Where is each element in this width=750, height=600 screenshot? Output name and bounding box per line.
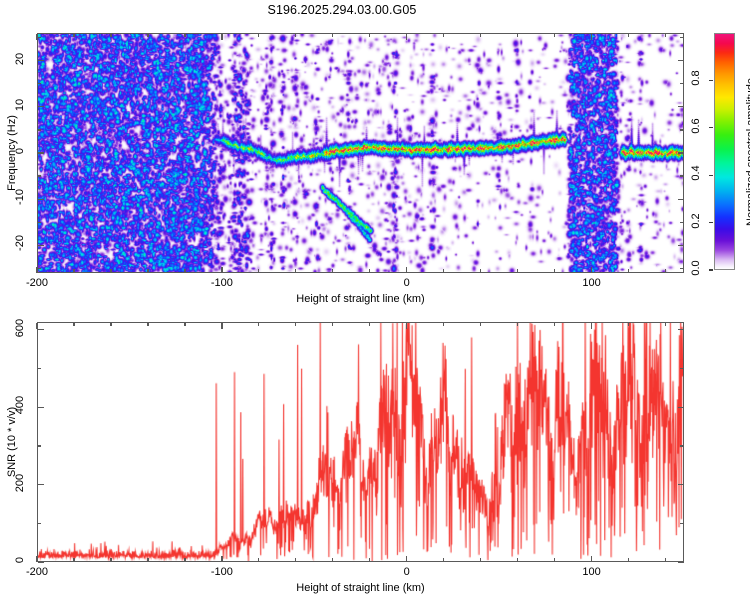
x-minor-tick: [332, 34, 333, 38]
y-tick: [678, 152, 684, 153]
x-minor-tick: [184, 269, 185, 273]
y-tick: [38, 199, 44, 200]
x-tick-label: -200: [26, 277, 48, 289]
spectrogram-canvas: [38, 34, 683, 272]
y-minor-tick: [38, 175, 42, 176]
y-minor-tick: [680, 523, 684, 524]
y-tick: [678, 561, 684, 562]
y-tick-label: 600: [14, 315, 26, 341]
colorbar: [714, 33, 735, 270]
x-tick: [591, 556, 592, 562]
y-minor-tick: [38, 83, 42, 84]
x-minor-tick: [628, 269, 629, 273]
y-tick: [678, 245, 684, 246]
x-tick-label: -200: [26, 566, 48, 578]
x-minor-tick: [480, 558, 481, 562]
x-minor-tick: [110, 558, 111, 562]
x-minor-tick: [443, 269, 444, 273]
x-axis-title: Height of straight line (km): [296, 293, 424, 305]
y-tick-label: -20: [14, 230, 26, 256]
x-minor-tick: [258, 558, 259, 562]
colorbar-tick: [709, 269, 713, 270]
x-minor-tick: [554, 34, 555, 38]
y-minor-tick: [38, 222, 42, 223]
y-tick: [678, 407, 684, 408]
colorbar-tick-label: 0.4: [690, 159, 702, 187]
y-minor-tick: [680, 445, 684, 446]
y-tick: [38, 484, 44, 485]
x-tick-label: 0: [404, 566, 410, 578]
x-minor-tick: [665, 34, 666, 38]
x-minor-tick: [73, 558, 74, 562]
x-minor-tick: [369, 269, 370, 273]
y-tick: [678, 484, 684, 485]
y-minor-tick: [680, 368, 684, 369]
colorbar-tick-label: 0.8: [690, 64, 702, 92]
x-minor-tick: [110, 269, 111, 273]
snr-plot-area: [37, 322, 684, 562]
x-minor-tick: [665, 558, 666, 562]
y-minor-tick: [680, 222, 684, 223]
y-tick: [38, 561, 44, 562]
x-minor-tick: [258, 269, 259, 273]
x-minor-tick: [147, 558, 148, 562]
x-minor-tick: [443, 323, 444, 327]
y-minor-tick: [680, 129, 684, 130]
y-minor-tick: [680, 37, 684, 38]
y-tick: [678, 199, 684, 200]
x-minor-tick: [258, 323, 259, 327]
x-minor-tick: [443, 558, 444, 562]
y-minor-tick: [38, 268, 42, 269]
y-tick-label: 10: [14, 92, 26, 118]
x-minor-tick: [147, 34, 148, 38]
x-minor-tick: [147, 323, 148, 327]
x-minor-tick: [73, 34, 74, 38]
y-minor-tick: [680, 175, 684, 176]
figure-root: S196.2025.294.03.00.G05 -200-1000100-20-…: [0, 0, 750, 600]
colorbar-tick-label: 0.0: [690, 254, 702, 282]
y-minor-tick: [38, 368, 42, 369]
y-tick: [38, 329, 44, 330]
x-tick: [591, 267, 592, 273]
x-tick-label: 0: [404, 277, 410, 289]
x-minor-tick: [369, 323, 370, 327]
y-tick: [38, 407, 44, 408]
y-tick: [38, 106, 44, 107]
x-tick: [36, 323, 37, 329]
x-minor-tick: [628, 34, 629, 38]
x-minor-tick: [110, 34, 111, 38]
x-minor-tick: [443, 34, 444, 38]
x-tick: [406, 34, 407, 40]
x-tick: [591, 323, 592, 329]
x-minor-tick: [332, 323, 333, 327]
x-minor-tick: [258, 34, 259, 38]
colorbar-tick: [709, 127, 713, 128]
x-minor-tick: [295, 323, 296, 327]
y-tick: [678, 60, 684, 61]
y-tick: [38, 60, 44, 61]
x-tick: [591, 34, 592, 40]
spectrogram-plot-area: [37, 33, 684, 273]
page-title: S196.2025.294.03.00.G05: [0, 3, 684, 17]
y-minor-tick: [38, 129, 42, 130]
y-tick: [38, 152, 44, 153]
x-minor-tick: [665, 323, 666, 327]
x-minor-tick: [147, 269, 148, 273]
colorbar-title: Normalized spectral amplitude: [745, 78, 750, 226]
x-minor-tick: [517, 323, 518, 327]
colorbar-tick-label: 0.6: [690, 112, 702, 140]
colorbar-tick: [709, 175, 713, 176]
x-minor-tick: [73, 323, 74, 327]
y-tick-label: 20: [14, 46, 26, 72]
x-minor-tick: [369, 34, 370, 38]
x-minor-tick: [480, 34, 481, 38]
x-tick: [406, 323, 407, 329]
colorbar-tick-label: 0.2: [690, 207, 702, 235]
y-minor-tick: [680, 268, 684, 269]
x-minor-tick: [369, 558, 370, 562]
y-axis-title: Frequency (Hz): [6, 115, 18, 191]
y-tick: [38, 245, 44, 246]
colorbar-tick: [709, 80, 713, 81]
y-tick: [678, 106, 684, 107]
x-minor-tick: [517, 558, 518, 562]
y-tick: [678, 329, 684, 330]
x-minor-tick: [184, 323, 185, 327]
x-tick: [221, 34, 222, 40]
x-minor-tick: [554, 269, 555, 273]
x-minor-tick: [554, 558, 555, 562]
x-tick-label: -100: [211, 566, 233, 578]
x-minor-tick: [554, 323, 555, 327]
x-minor-tick: [73, 269, 74, 273]
x-tick: [221, 556, 222, 562]
snr-canvas: [38, 323, 683, 561]
x-minor-tick: [332, 269, 333, 273]
y-minor-tick: [680, 83, 684, 84]
y-tick-label: 0: [14, 547, 26, 573]
x-tick-label: 100: [582, 277, 600, 289]
x-minor-tick: [628, 323, 629, 327]
x-tick: [221, 323, 222, 329]
x-minor-tick: [517, 34, 518, 38]
colorbar-tick: [709, 222, 713, 223]
x-minor-tick: [628, 558, 629, 562]
x-minor-tick: [517, 269, 518, 273]
y-minor-tick: [38, 37, 42, 38]
y-minor-tick: [38, 445, 42, 446]
x-tick: [406, 267, 407, 273]
y-minor-tick: [38, 523, 42, 524]
x-minor-tick: [480, 269, 481, 273]
x-minor-tick: [295, 558, 296, 562]
x-tick: [221, 267, 222, 273]
x-minor-tick: [480, 323, 481, 327]
x-tick: [406, 556, 407, 562]
x-tick-label: -100: [211, 277, 233, 289]
x-axis-title: Height of straight line (km): [296, 582, 424, 594]
x-minor-tick: [110, 323, 111, 327]
x-minor-tick: [295, 269, 296, 273]
x-minor-tick: [184, 558, 185, 562]
x-minor-tick: [332, 558, 333, 562]
x-minor-tick: [295, 34, 296, 38]
x-tick-label: 100: [582, 566, 600, 578]
y-axis-title: SNR (10 * v/v): [6, 407, 18, 477]
x-minor-tick: [184, 34, 185, 38]
x-minor-tick: [665, 269, 666, 273]
